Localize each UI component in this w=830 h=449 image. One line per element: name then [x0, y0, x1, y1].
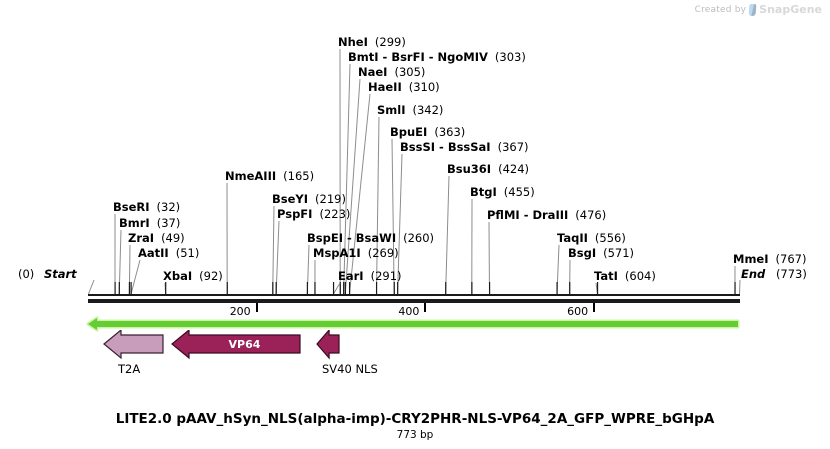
enzyme-cut-position: (165) [283, 169, 314, 183]
feature-label-sv40-nls: SV40 NLS [322, 362, 378, 376]
enzyme-cut-position: (767) [776, 252, 807, 266]
credit-prefix-label: Created by [695, 5, 747, 15]
cut-site-tick [597, 282, 598, 294]
enzyme-label-mspa1i[interactable]: MspA1I(269) [313, 246, 399, 260]
leader-line-bmri [119, 230, 121, 294]
enzyme-name: Bsu36I [447, 162, 491, 176]
cut-site-tick [345, 282, 346, 294]
feature-inner-label-vp64: VP64 [229, 338, 261, 351]
enzyme-name: NmeAIII [225, 169, 276, 183]
ruler-tick-400 [424, 303, 426, 312]
enzyme-label-pspfi[interactable]: PspFI(223) [277, 207, 350, 221]
leader-line-haeii [349, 94, 370, 294]
enzyme-label-bsgi[interactable]: BsgI(571) [568, 246, 634, 260]
leader-line-tati [596, 283, 597, 294]
leader-line-xbai [165, 283, 166, 294]
enzyme-label-bsu36i[interactable]: Bsu36I(424) [447, 162, 529, 176]
leader-line-zrai [129, 245, 130, 294]
enzyme-name: MspA1I [313, 246, 361, 260]
enzyme-name: MmeI [733, 252, 769, 266]
enzyme-name: BspEI [307, 231, 343, 245]
enzyme-label-taqii[interactable]: TaqII(556) [557, 231, 626, 245]
feature-arrow-sv40-nls[interactable] [317, 330, 339, 358]
snapgene-credit: Created by SnapGene [695, 3, 822, 16]
enzyme-name: BsrFI [391, 50, 424, 64]
enzyme-label-haeii[interactable]: HaeII(310) [368, 80, 440, 94]
enzyme-label-bseri[interactable]: BseRI(32) [113, 200, 180, 214]
enzyme-cut-position: (260) [403, 231, 434, 245]
cut-site-tick [445, 282, 446, 294]
enzyme-cut-position: (455) [504, 185, 535, 199]
cut-site-tick [343, 282, 344, 294]
snapgene-brand-label: SnapGene [759, 3, 822, 16]
ruler-tick-600 [593, 303, 595, 312]
enzyme-name: BssSI [400, 140, 435, 154]
backbone-top-line [88, 294, 740, 296]
cut-site-tick [307, 282, 308, 294]
leader-line-naei [345, 79, 360, 294]
cut-site-tick [489, 282, 490, 294]
end-name: End [741, 267, 765, 281]
enzyme-label-btgi[interactable]: BtgI(455) [470, 185, 535, 199]
cut-site-tick [397, 282, 398, 294]
enzyme-cut-position: (367) [498, 140, 529, 154]
enzyme-name: NaeI [358, 65, 387, 79]
ruler-tick-200 [256, 303, 258, 312]
end-position: (773) [776, 267, 807, 281]
cut-site-tick [471, 282, 472, 294]
leader-line-bspei [307, 245, 309, 294]
enzyme-label-bsssi[interactable]: BssSI - BssSaI(367) [400, 140, 529, 154]
leader-line-bsu36i [446, 176, 449, 294]
enzyme-cut-position: (299) [375, 35, 406, 49]
enzyme-name: TatI [594, 269, 618, 283]
leader-line-eari [333, 283, 340, 294]
enzyme-name: NheI [338, 35, 368, 49]
enzyme-label-pflmi[interactable]: PflMI - DraIII(476) [487, 208, 606, 222]
cut-site-tick [227, 282, 228, 294]
enzyme-cut-position: (219) [315, 192, 346, 206]
backbone-main-line [88, 299, 740, 303]
enzyme-label-nhei[interactable]: NheI(299) [338, 35, 406, 49]
length-label: 773 bp [0, 429, 830, 441]
enzyme-label-naei[interactable]: NaeI(305) [358, 65, 425, 79]
cut-site-tick [114, 282, 115, 294]
enzyme-cut-position: (310) [409, 80, 440, 94]
enzyme-name: AatII [138, 246, 169, 260]
leader-line-end [740, 280, 741, 294]
enzyme-cut-position: (92) [199, 269, 223, 283]
cut-site-tick [394, 282, 395, 294]
enzyme-cut-position: (604) [625, 269, 656, 283]
enzyme-name: HaeII [368, 80, 402, 94]
enzyme-name-separator: - [425, 50, 438, 64]
enzyme-name: NgoMIV [438, 50, 488, 64]
enzyme-cut-position: (37) [157, 216, 181, 230]
cut-site-tick [349, 282, 350, 294]
cut-site-tick [314, 282, 315, 294]
feature-arrow-group: VP64 [90, 330, 360, 364]
enzyme-name: ZraI [128, 231, 154, 245]
enzyme-label-mmei[interactable]: MmeI(767) [733, 252, 806, 266]
cut-site-tick [272, 282, 273, 294]
enzyme-cut-position: (305) [394, 65, 425, 79]
cut-site-tick [165, 282, 166, 294]
leader-line-bseyi [273, 206, 274, 294]
enzyme-name: BseRI [113, 200, 150, 214]
leader-line-pspfi [276, 221, 279, 294]
enzyme-name-separator: - [435, 140, 448, 154]
enzyme-cut-position: (291) [371, 269, 402, 283]
enzyme-label-bpuei[interactable]: BpuEI(363) [390, 125, 465, 139]
cut-site-tick [276, 282, 277, 294]
cut-site-tick [340, 282, 341, 294]
enzyme-name: PspFI [277, 207, 312, 221]
enzyme-cut-position: (424) [498, 162, 529, 176]
enzyme-name: BsgI [568, 246, 596, 260]
start-label: (0) Start [18, 267, 77, 281]
enzyme-name: BmtI [348, 50, 379, 64]
leader-line-taqii [557, 245, 559, 294]
enzyme-name: BmrI [119, 216, 150, 230]
enzyme-name: EarI [338, 269, 364, 283]
cut-site-tick [569, 282, 570, 294]
enzyme-cut-position: (32) [157, 200, 181, 214]
enzyme-name: BsaWI [356, 231, 396, 245]
enzyme-cut-position: (571) [603, 246, 634, 260]
cut-site-tick [556, 282, 557, 294]
enzyme-label-smli[interactable]: SmlI(342) [377, 103, 443, 117]
enzyme-label-tati[interactable]: TatI(604) [594, 269, 656, 283]
cut-site-tick [376, 282, 377, 294]
enzyme-cut-position: (223) [319, 207, 350, 221]
cut-site-tick [333, 282, 334, 294]
enzyme-label-bmti[interactable]: BmtI - BsrFI - NgoMIV(303) [348, 50, 526, 64]
enzyme-cut-position: (556) [595, 231, 626, 245]
plasmid-linear-map: Created by SnapGene NheI(299)BmtI - BsrF… [0, 0, 830, 449]
start-position: (0) [18, 267, 34, 281]
enzyme-name: BseYI [272, 192, 308, 206]
page-title: LITE2.0 pAAV_hSyn_NLS(alpha-imp)-CRY2PHR… [0, 411, 830, 427]
cut-site-tick [129, 282, 130, 294]
enzyme-name: TaqII [557, 231, 588, 245]
enzyme-cut-position: (51) [176, 246, 200, 260]
leader-line-start [89, 280, 95, 294]
enzyme-cut-position: (303) [495, 50, 526, 64]
orf-arrow-shape[interactable] [88, 318, 738, 330]
enzyme-label-bseyi[interactable]: BseYI(219) [272, 192, 346, 206]
enzyme-cut-position: (49) [161, 231, 185, 245]
enzyme-label-xbai[interactable]: XbaI(92) [163, 269, 223, 283]
cut-site-tick [131, 282, 132, 294]
leader-line-smli [376, 117, 379, 294]
enzyme-label-bspei[interactable]: BspEI - BsaWI(260) [307, 231, 434, 245]
enzyme-cut-position: (363) [434, 125, 465, 139]
enzyme-cut-position: (269) [368, 246, 399, 260]
enzyme-label-bmri[interactable]: BmrI(37) [119, 216, 180, 230]
enzyme-label-eari[interactable]: EarI(291) [338, 269, 402, 283]
enzyme-name: BpuEI [390, 125, 427, 139]
enzyme-cut-position: (476) [575, 208, 606, 222]
enzyme-name: DraIII [532, 208, 568, 222]
leader-line-aatii [131, 260, 140, 294]
enzyme-label-nmeaiii[interactable]: NmeAIII(165) [225, 169, 314, 183]
enzyme-name: PflMI [487, 208, 520, 222]
feature-arrow-t2a[interactable] [104, 330, 163, 358]
enzyme-cut-position: (342) [413, 103, 444, 117]
enzyme-name-separator: - [520, 208, 533, 222]
feature-label-t2a: T2A [118, 362, 140, 376]
enzyme-label-aatii[interactable]: AatII(51) [138, 246, 199, 260]
end-label: End (773) [741, 267, 807, 281]
enzyme-label-zrai[interactable]: ZraI(49) [128, 231, 185, 245]
enzyme-name: XbaI [163, 269, 192, 283]
enzyme-name-separator: - [343, 231, 356, 245]
cut-site-tick [119, 282, 120, 294]
enzyme-name: BtgI [470, 185, 497, 199]
cut-site-tick [734, 282, 735, 294]
enzyme-name: BssSaI [448, 140, 491, 154]
enzyme-name-separator: - [379, 50, 392, 64]
snapgene-logo-icon [749, 4, 757, 16]
start-name: Start [44, 267, 77, 281]
enzyme-name: SmlI [377, 103, 406, 117]
